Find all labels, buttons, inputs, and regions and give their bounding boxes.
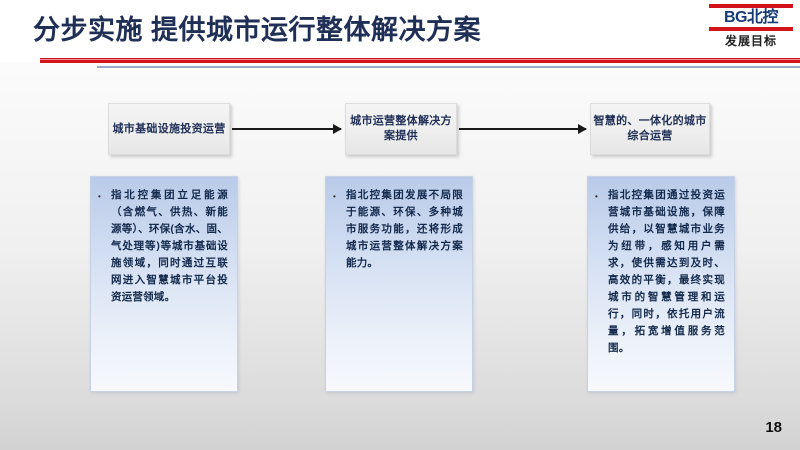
- bullet-item: • 指北控集团发展不局限于能源、环保、多种城市服务功能，还将形成城市运营整体解决…: [333, 187, 463, 272]
- slide-canvas: 分步实施 提供城市运行整体解决方案 BG北控 发展目标 城市基础设施投资运营 城…: [0, 0, 800, 450]
- flow-stage-box-2[interactable]: 城市运营整体解决方案提供: [345, 103, 457, 155]
- logo-bar-bottom: [709, 27, 793, 31]
- description-panel-2: • 指北控集团发展不局限于能源、环保、多种城市服务功能，还将形成城市运营整体解决…: [325, 176, 473, 392]
- arrow-right-icon-1: [232, 128, 341, 130]
- flow-stage-box-3[interactable]: 智慧的、一体化的城市综合运营: [590, 103, 710, 155]
- bullet-dot-icon: •: [333, 187, 346, 201]
- description-panel-1: • 指北控集团立足能源（含燃气、供热、新能源等）、环保(含水、固、气处理等)等城…: [90, 176, 238, 392]
- title-rule-blue: [97, 66, 800, 68]
- flow-stage-label-2: 城市运营整体解决方案提供: [346, 114, 456, 144]
- panel-body-text-3: 指北控集团通过投资运营城市基础设施，保障供给，以智慧城市业务为纽带，感知用户需求…: [608, 187, 725, 357]
- process-flow: 城市基础设施投资运营 城市运营整体解决方案提供 智慧的、一体化的城市综合运营: [0, 103, 800, 161]
- brand-logo: BG北控 发展目标: [707, 4, 795, 49]
- flow-stage-box-1[interactable]: 城市基础设施投资运营: [108, 103, 230, 155]
- page-title: 分步实施 提供城市运行整体解决方案: [33, 12, 481, 48]
- bullet-dot-icon: •: [98, 187, 111, 201]
- bullet-item: • 指北控集团通过投资运营城市基础设施，保障供给，以智慧城市业务为纽带，感知用户…: [595, 187, 725, 357]
- arrow-right-icon-2: [459, 128, 586, 130]
- panel-body-text-2: 指北控集团发展不局限于能源、环保、多种城市服务功能，还将形成城市运营整体解决方案…: [346, 187, 463, 272]
- logo-tagline: 发展目标: [707, 33, 795, 49]
- bullet-dot-icon: •: [595, 187, 608, 201]
- bullet-item: • 指北控集团立足能源（含燃气、供热、新能源等）、环保(含水、固、气处理等)等城…: [98, 187, 228, 306]
- title-rule-red: [40, 58, 800, 63]
- logo-wordmark: BG北控: [707, 8, 795, 27]
- page-number: 18: [765, 419, 782, 436]
- panel-body-text-1: 指北控集团立足能源（含燃气、供热、新能源等）、环保(含水、固、气处理等)等城市基…: [111, 187, 228, 306]
- flow-stage-label-1: 城市基础设施投资运营: [113, 122, 226, 137]
- description-panel-3: • 指北控集团通过投资运营城市基础设施，保障供给，以智慧城市业务为纽带，感知用户…: [587, 176, 735, 392]
- flow-stage-label-3: 智慧的、一体化的城市综合运营: [591, 114, 709, 144]
